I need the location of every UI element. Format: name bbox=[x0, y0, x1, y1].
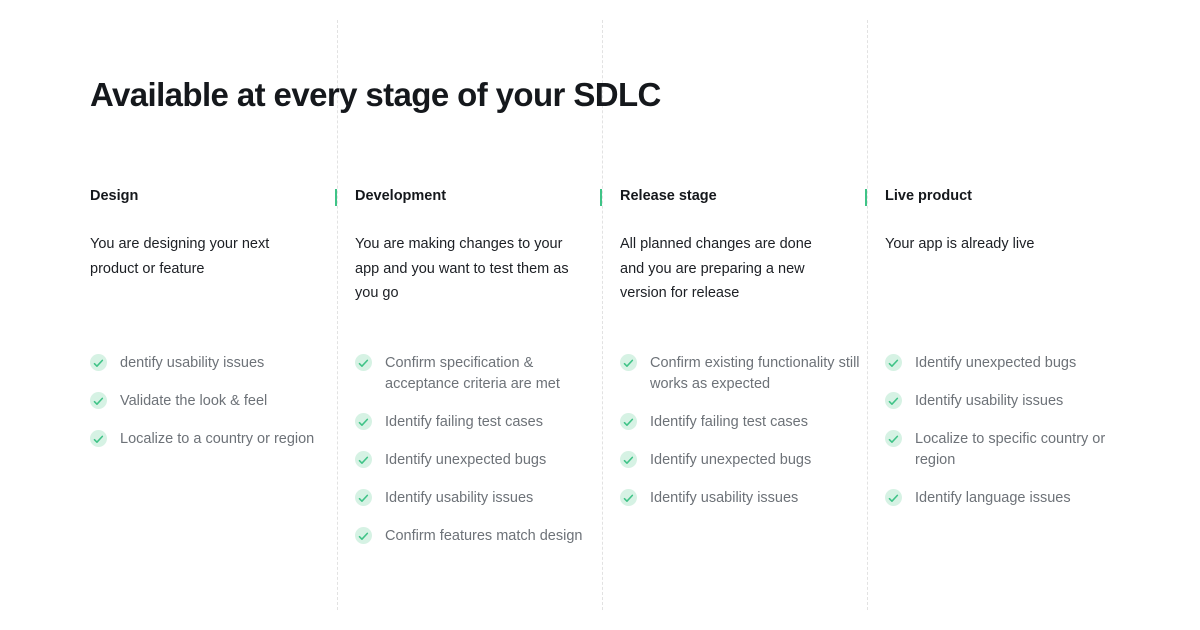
list-item: Identify failing test cases bbox=[355, 412, 595, 433]
list-item-label: Identify unexpected bugs bbox=[915, 355, 1076, 371]
list-item-label: Identify failing test cases bbox=[385, 414, 543, 430]
list-item: Confirm features match design bbox=[355, 526, 595, 547]
stage-checklist: dentify usability issues Validate the lo… bbox=[90, 353, 330, 450]
stage-column-design: Design You are designing your next produ… bbox=[90, 186, 330, 281]
list-item: Confirm specification & acceptance crite… bbox=[355, 353, 595, 395]
list-item-label: Validate the look & feel bbox=[120, 393, 267, 409]
check-circle-icon bbox=[355, 413, 372, 430]
list-item-label: dentify usability issues bbox=[120, 355, 264, 371]
list-item-label: Localize to specific country or region bbox=[915, 431, 1105, 468]
list-item-label: Confirm features match design bbox=[385, 528, 582, 544]
stage-description: You are making changes to your app and y… bbox=[355, 232, 570, 306]
stage-checklist: Confirm specification & acceptance crite… bbox=[355, 353, 595, 547]
list-item: Identify unexpected bugs bbox=[355, 450, 595, 471]
list-item: Identify usability issues bbox=[355, 488, 595, 509]
stage-description: You are designing your next product or f… bbox=[90, 232, 305, 281]
list-item: Identify unexpected bugs bbox=[885, 353, 1125, 374]
list-item-label: Identify usability issues bbox=[650, 490, 798, 506]
stage-heading-label: Live product bbox=[885, 188, 972, 204]
stage-description: Your app is already live bbox=[885, 232, 1100, 257]
check-circle-icon bbox=[90, 392, 107, 409]
accent-bar-icon bbox=[335, 189, 337, 206]
check-circle-icon bbox=[355, 451, 372, 468]
list-item-label: Identify usability issues bbox=[385, 490, 533, 506]
stage-checklist: Identify unexpected bugs Identify usabil… bbox=[885, 353, 1125, 509]
stage-heading: Live product bbox=[885, 186, 1125, 206]
list-item-label: Identify language issues bbox=[915, 490, 1071, 506]
check-circle-icon bbox=[885, 430, 902, 447]
list-item: Validate the look & feel bbox=[90, 391, 330, 412]
list-item: Identify failing test cases bbox=[620, 412, 860, 433]
list-item: Identify usability issues bbox=[620, 488, 860, 509]
list-item-label: Identify unexpected bugs bbox=[385, 452, 546, 468]
stage-description: All planned changes are done and you are… bbox=[620, 232, 835, 306]
list-item-label: Identify failing test cases bbox=[650, 414, 808, 430]
stage-heading-label: Release stage bbox=[620, 188, 717, 204]
stage-checklist: Confirm existing functionality still wor… bbox=[620, 353, 860, 509]
check-circle-icon bbox=[620, 354, 637, 371]
list-item: Confirm existing functionality still wor… bbox=[620, 353, 860, 395]
list-item: dentify usability issues bbox=[90, 353, 330, 374]
list-item: Localize to a country or region bbox=[90, 429, 330, 450]
stage-heading: Development bbox=[355, 186, 595, 206]
list-item-label: Identify usability issues bbox=[915, 393, 1063, 409]
check-circle-icon bbox=[885, 489, 902, 506]
check-circle-icon bbox=[355, 354, 372, 371]
list-item: Identify usability issues bbox=[885, 391, 1125, 412]
list-item: Identify unexpected bugs bbox=[620, 450, 860, 471]
list-item: Identify language issues bbox=[885, 488, 1125, 509]
stage-heading: Design bbox=[90, 186, 330, 206]
check-circle-icon bbox=[355, 527, 372, 544]
check-circle-icon bbox=[885, 354, 902, 371]
stage-column-release: Release stage All planned changes are do… bbox=[620, 186, 860, 306]
check-circle-icon bbox=[90, 430, 107, 447]
accent-bar-icon bbox=[600, 189, 602, 206]
check-circle-icon bbox=[620, 451, 637, 468]
list-item-label: Localize to a country or region bbox=[120, 431, 314, 447]
list-item-label: Confirm existing functionality still wor… bbox=[650, 355, 860, 392]
stage-heading: Release stage bbox=[620, 186, 860, 206]
stage-heading-label: Design bbox=[90, 188, 138, 204]
page-title: Available at every stage of your SDLC bbox=[90, 74, 661, 116]
column-divider-3 bbox=[867, 20, 868, 610]
list-item: Localize to specific country or region bbox=[885, 429, 1125, 471]
check-circle-icon bbox=[620, 413, 637, 430]
stage-column-live-product: Live product Your app is already live Id… bbox=[885, 186, 1125, 257]
stage-heading-label: Development bbox=[355, 188, 446, 204]
list-item-label: Identify unexpected bugs bbox=[650, 452, 811, 468]
infographic-page: Available at every stage of your SDLC De… bbox=[0, 0, 1200, 630]
check-circle-icon bbox=[620, 489, 637, 506]
list-item-label: Confirm specification & acceptance crite… bbox=[385, 355, 560, 392]
stage-column-development: Development You are making changes to yo… bbox=[355, 186, 595, 306]
check-circle-icon bbox=[90, 354, 107, 371]
accent-bar-icon bbox=[865, 189, 867, 206]
check-circle-icon bbox=[885, 392, 902, 409]
check-circle-icon bbox=[355, 489, 372, 506]
